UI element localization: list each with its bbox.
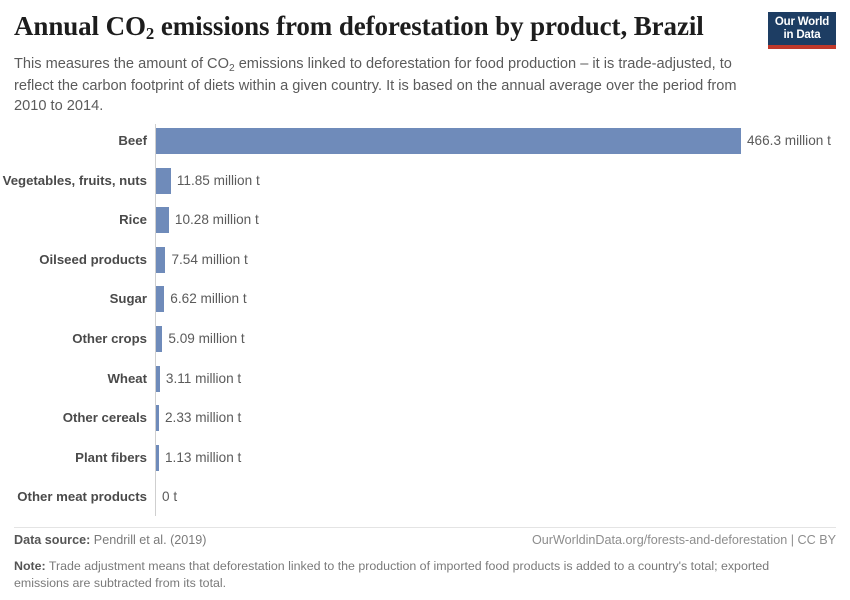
bar-row[interactable]: Other meat products0 t [0, 484, 850, 510]
bar-value-label: 7.54 million t [171, 247, 247, 273]
bar-value-label: 1.13 million t [165, 445, 241, 471]
data-source-value: Pendrill et al. (2019) [90, 533, 206, 547]
bar[interactable] [156, 207, 169, 233]
our-world-in-data-logo[interactable]: Our World in Data [768, 12, 836, 49]
bar-category-label: Rice [0, 207, 147, 233]
bar[interactable] [156, 445, 159, 471]
bar-value-label: 2.33 million t [165, 405, 241, 431]
chart-page: Annual CO2 emissions from deforestation … [0, 0, 850, 600]
bar-value-label: 466.3 million t [747, 128, 831, 154]
subtitle-part-1: This measures the amount of CO [14, 56, 229, 72]
footer-note-label: Note: [14, 559, 46, 573]
bar[interactable] [156, 366, 160, 392]
bar-category-label: Vegetables, fruits, nuts [0, 168, 147, 194]
subtitle-subscript: 2 [229, 63, 235, 74]
footer-top-row: Data source: Pendrill et al. (2019) OurW… [14, 533, 836, 553]
bar-category-label: Other cereals [0, 405, 147, 431]
bar-value-label: 0 t [162, 484, 177, 510]
bar-value-label: 3.11 million t [166, 366, 241, 392]
bar-row[interactable]: Plant fibers1.13 million t [0, 445, 850, 471]
bar-row[interactable]: Wheat3.11 million t [0, 366, 850, 392]
title-suffix: emissions from deforestation by product,… [154, 11, 703, 41]
bar[interactable] [156, 247, 165, 273]
bar-value-label: 10.28 million t [175, 207, 259, 233]
bar-category-label: Oilseed products [0, 247, 147, 273]
bar-row[interactable]: Other cereals2.33 million t [0, 405, 850, 431]
chart-subtitle: This measures the amount of CO2 emission… [14, 54, 759, 116]
bar-category-label: Plant fibers [0, 445, 147, 471]
bar[interactable] [156, 128, 741, 154]
bar[interactable] [156, 405, 159, 431]
bar-value-label: 11.85 million t [177, 168, 260, 194]
bar-row[interactable]: Vegetables, fruits, nuts11.85 million t [0, 168, 850, 194]
bar-value-label: 5.09 million t [168, 326, 244, 352]
bar-row[interactable]: Oilseed products7.54 million t [0, 247, 850, 273]
footer-note: Note: Trade adjustment means that defore… [14, 558, 824, 592]
bar[interactable] [156, 286, 164, 312]
footer-divider [14, 527, 836, 528]
bar-row[interactable]: Beef466.3 million t [0, 128, 850, 154]
bar-category-label: Other crops [0, 326, 147, 352]
bar[interactable] [156, 326, 162, 352]
footer-note-value: Trade adjustment means that deforestatio… [14, 559, 769, 590]
logo-line-1: Our World [772, 16, 832, 29]
bar[interactable] [156, 168, 171, 194]
bar-category-label: Other meat products [0, 484, 147, 510]
bar-value-label: 6.62 million t [170, 286, 246, 312]
bar-row[interactable]: Other crops5.09 million t [0, 326, 850, 352]
bar-category-label: Sugar [0, 286, 147, 312]
bar-row[interactable]: Sugar6.62 million t [0, 286, 850, 312]
data-source: Data source: Pendrill et al. (2019) [14, 533, 207, 547]
title-prefix: Annual CO [14, 11, 146, 41]
footer-link[interactable]: OurWorldinData.org/forests-and-deforesta… [532, 533, 836, 547]
page-title: Annual CO2 emissions from deforestation … [14, 10, 836, 46]
title-subscript: 2 [146, 24, 154, 43]
bar-chart: Beef466.3 million tVegetables, fruits, n… [0, 122, 850, 518]
chart-footer: Data source: Pendrill et al. (2019) OurW… [14, 533, 836, 592]
bar-category-label: Wheat [0, 366, 147, 392]
chart-header: Annual CO2 emissions from deforestation … [14, 10, 836, 116]
logo-line-2: in Data [772, 29, 832, 42]
bar-row[interactable]: Rice10.28 million t [0, 207, 850, 233]
bar-category-label: Beef [0, 128, 147, 154]
data-source-label: Data source: [14, 533, 90, 547]
